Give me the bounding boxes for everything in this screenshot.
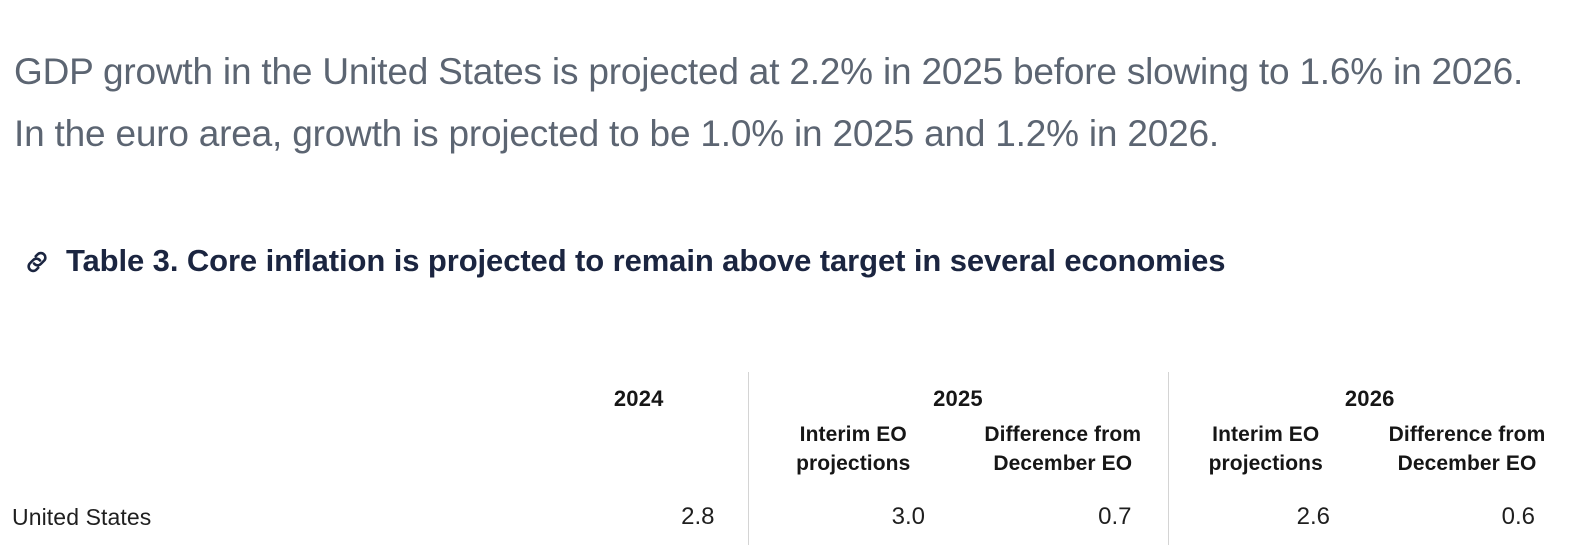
sub-header-blank-label — [0, 420, 530, 487]
table-sub-header-row: Interim EO projections Difference from D… — [0, 420, 1571, 487]
sub-header-blank-2024 — [530, 420, 748, 487]
sub-header-2026-difference-line2: December EO — [1363, 449, 1571, 478]
table-head: 2024 2025 2026 Interim EO projections Di… — [0, 372, 1571, 487]
group-header-blank — [0, 372, 530, 420]
table-container: 2024 2025 2026 Interim EO projections Di… — [0, 372, 1571, 545]
cell-2026-difference-united-states: 0.6 — [1363, 487, 1571, 545]
sub-header-2025-difference-line2: December EO — [958, 449, 1168, 478]
sub-header-2026-interim-line1: Interim EO — [1169, 420, 1364, 449]
sub-header-2025-interim-line2: projections — [749, 449, 959, 478]
document-page: GDP growth in the United States is proje… — [0, 0, 1571, 546]
intro-paragraph: GDP growth in the United States is proje… — [14, 41, 1559, 165]
link-icon[interactable] — [22, 247, 52, 277]
sub-header-2025-interim: Interim EO projections — [748, 420, 958, 487]
sub-header-2026-interim-line2: projections — [1169, 449, 1364, 478]
sub-header-2025-difference: Difference from December EO — [958, 420, 1168, 487]
row-label-united-states: United States — [0, 487, 530, 545]
table-body: United States 2.8 3.0 0.7 2.6 0.6 — [0, 487, 1571, 545]
cell-2024-united-states: 2.8 — [530, 487, 748, 545]
core-inflation-table: 2024 2025 2026 Interim EO projections Di… — [0, 372, 1571, 545]
sub-header-2026-difference: Difference from December EO — [1363, 420, 1571, 487]
group-header-2025: 2025 — [748, 372, 1168, 420]
table-group-header-row: 2024 2025 2026 — [0, 372, 1571, 420]
sub-header-2025-interim-line1: Interim EO — [749, 420, 959, 449]
sub-header-2025-difference-line1: Difference from — [958, 420, 1168, 449]
table-caption-text: Table 3. Core inflation is projected to … — [66, 235, 1225, 287]
group-header-2024: 2024 — [530, 372, 748, 420]
cell-2026-interim-united-states: 2.6 — [1168, 487, 1363, 545]
table-caption: Table 3. Core inflation is projected to … — [22, 235, 1322, 287]
table-row: United States 2.8 3.0 0.7 2.6 0.6 — [0, 487, 1571, 545]
group-header-2026: 2026 — [1168, 372, 1571, 420]
cell-2025-interim-united-states: 3.0 — [748, 487, 958, 545]
cell-2025-difference-united-states: 0.7 — [958, 487, 1168, 545]
sub-header-2026-difference-line1: Difference from — [1363, 420, 1571, 449]
sub-header-2026-interim: Interim EO projections — [1168, 420, 1363, 487]
